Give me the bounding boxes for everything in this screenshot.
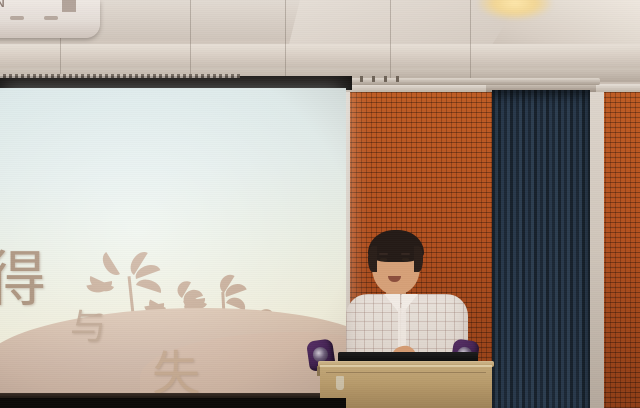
eye bbox=[402, 258, 409, 261]
screen-roller-teeth bbox=[0, 74, 240, 78]
projector-bracket bbox=[62, 0, 76, 12]
wall-pillar bbox=[588, 88, 604, 408]
slide-character-de: 得 bbox=[0, 250, 46, 310]
lecture-hall-photo: EPSON bbox=[0, 0, 640, 408]
projector-brand-label: EPSON bbox=[0, 0, 6, 10]
brick-wall-panel bbox=[600, 88, 640, 408]
eyebrow bbox=[379, 253, 388, 255]
hair-side bbox=[368, 246, 377, 272]
curtain-rail bbox=[350, 78, 600, 85]
hair-side bbox=[414, 246, 423, 272]
curtain-hook bbox=[372, 76, 375, 82]
projection-screen: 得 与 失 bbox=[0, 88, 346, 400]
stage-curtain bbox=[492, 90, 590, 408]
slide-character-yu: 与 bbox=[70, 310, 106, 346]
foreground-shadow bbox=[0, 398, 346, 408]
ceiling-beam bbox=[0, 44, 640, 70]
projector-vent bbox=[44, 16, 58, 20]
lectern-panel-line bbox=[326, 372, 486, 373]
eyebrow bbox=[401, 253, 410, 255]
curtain-hook bbox=[396, 76, 399, 82]
projector-icon: EPSON bbox=[0, 0, 100, 38]
slide-character-shi: 失 bbox=[152, 350, 200, 398]
eye bbox=[380, 258, 387, 261]
curtain-hook bbox=[360, 76, 363, 82]
water-glass bbox=[336, 376, 344, 390]
curtain-hook bbox=[384, 76, 387, 82]
projector-vent bbox=[10, 16, 24, 20]
ceiling-light-glow bbox=[478, 0, 552, 20]
